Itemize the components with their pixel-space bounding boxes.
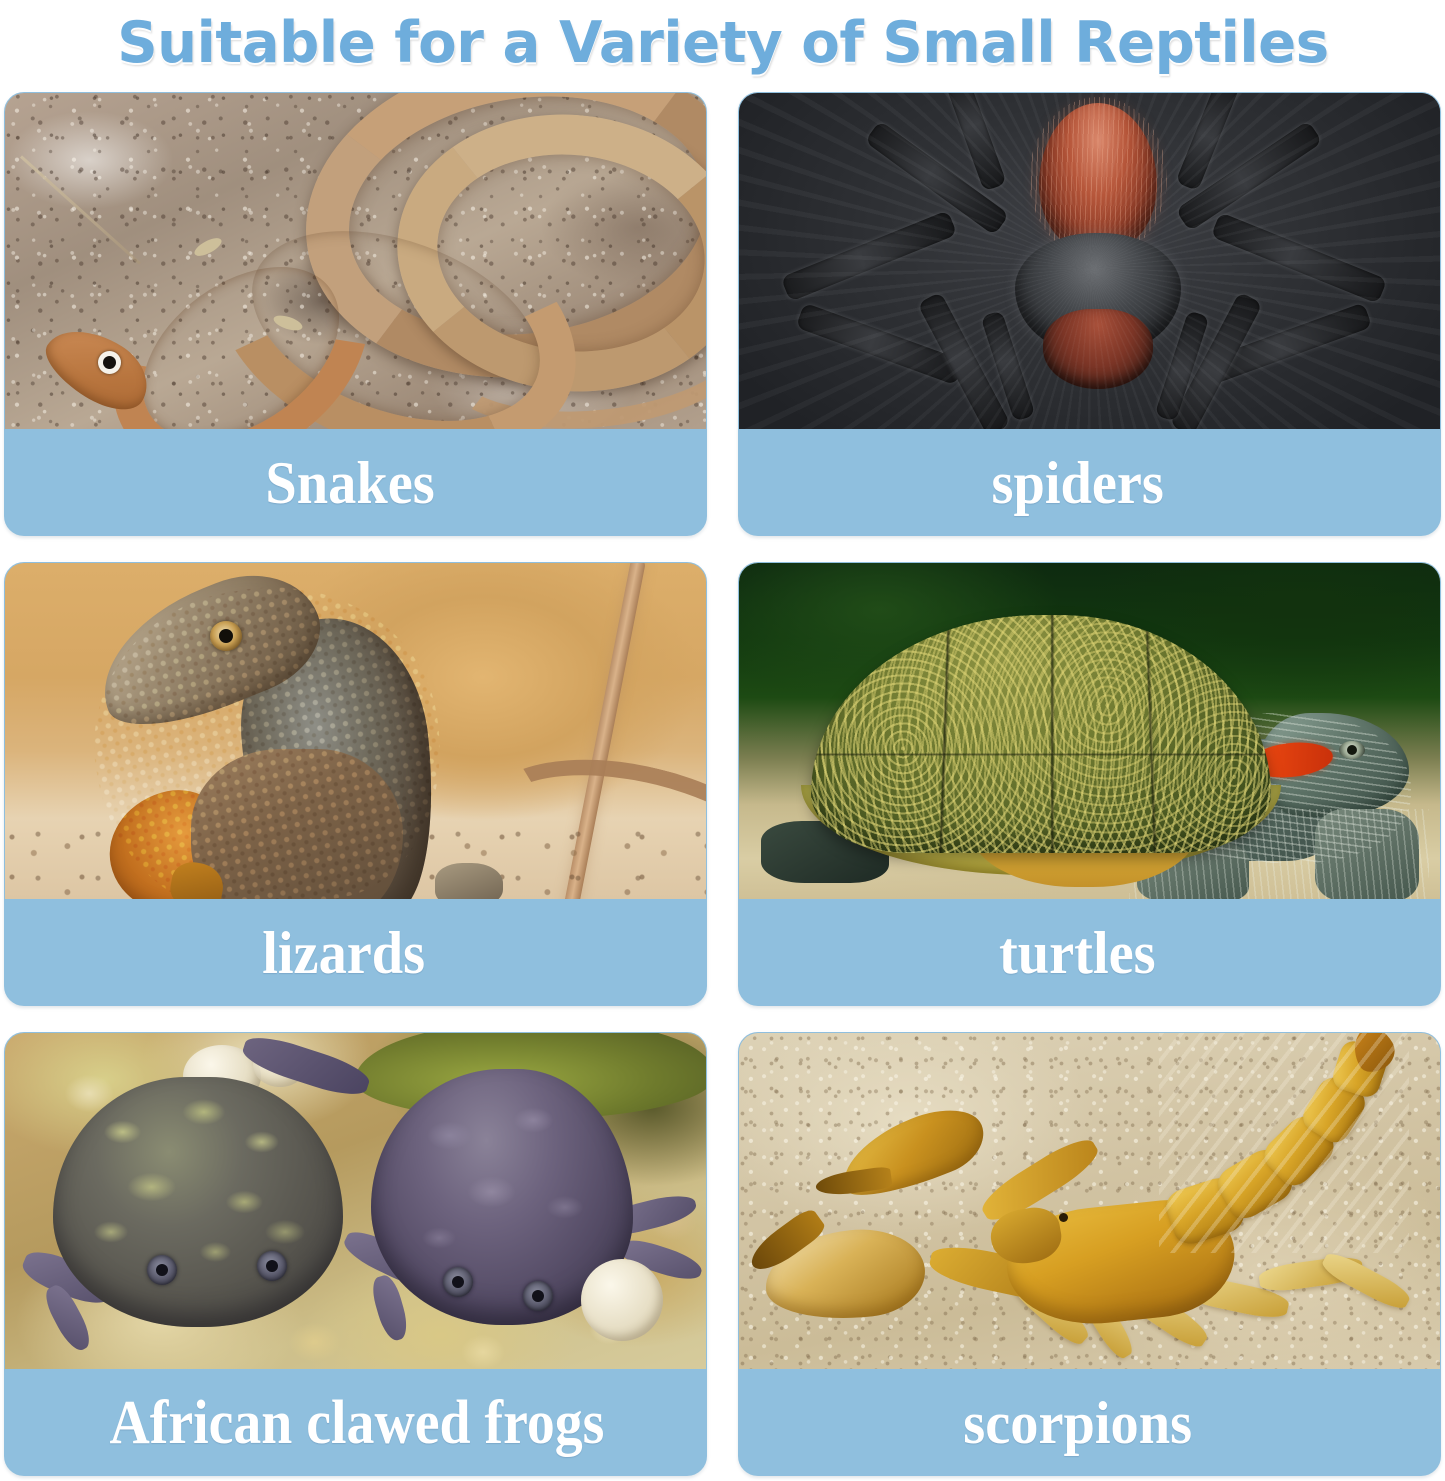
frog-left-eye-b [257, 1251, 287, 1281]
frog-pebble-two [581, 1259, 663, 1341]
scorpion-eye [1059, 1213, 1068, 1222]
frog-left-eye-a [147, 1255, 177, 1285]
turtle-photo [739, 563, 1441, 899]
card-label-spiders: spiders [991, 450, 1163, 516]
card-turtles[interactable]: turtles [738, 562, 1441, 1006]
card-spiders[interactable]: spiders [738, 92, 1441, 536]
card-label-african-clawed-frogs: African clawed frogs [109, 1390, 604, 1456]
card-snakes[interactable]: Snakes [4, 92, 707, 536]
spider-photo [739, 93, 1441, 429]
label-bar-snakes: Snakes [5, 429, 707, 536]
label-bar-spiders: spiders [739, 429, 1441, 536]
card-scorpions[interactable]: scorpions [738, 1032, 1441, 1476]
frog-right-eye-b [523, 1281, 553, 1311]
infographic-page: Suitable for a Variety of Small Reptiles… [0, 0, 1445, 1481]
snake-eye [98, 351, 121, 374]
label-bar-turtles: turtles [739, 899, 1441, 1006]
lizard-photo [5, 563, 707, 899]
lizard-foot [435, 863, 503, 899]
page-title: Suitable for a Variety of Small Reptiles [117, 13, 1328, 73]
label-bar-scorpions: scorpions [739, 1369, 1441, 1476]
card-label-turtles: turtles [999, 920, 1156, 986]
frog-right-eye-a [443, 1267, 473, 1297]
turtle-eye [1339, 741, 1365, 759]
label-bar-african-clawed-frogs: African clawed frogs [5, 1369, 707, 1476]
reptile-card-grid: Snakes [4, 92, 1441, 1481]
page-header: Suitable for a Variety of Small Reptiles [0, 0, 1445, 86]
label-bar-lizards: lizards [5, 899, 707, 1006]
frog-photo [5, 1033, 707, 1369]
frog-mottling-left [53, 1077, 343, 1327]
card-lizards[interactable]: lizards [4, 562, 707, 1006]
card-label-snakes: Snakes [266, 450, 435, 516]
snake-photo [5, 93, 707, 429]
card-label-scorpions: scorpions [963, 1390, 1192, 1456]
card-label-lizards: lizards [262, 920, 425, 986]
scorpion-photo [739, 1033, 1441, 1369]
spider-hair-texture [739, 93, 1441, 429]
lizard-eye [210, 621, 242, 651]
card-african-clawed-frogs[interactable]: African clawed frogs [4, 1032, 707, 1476]
